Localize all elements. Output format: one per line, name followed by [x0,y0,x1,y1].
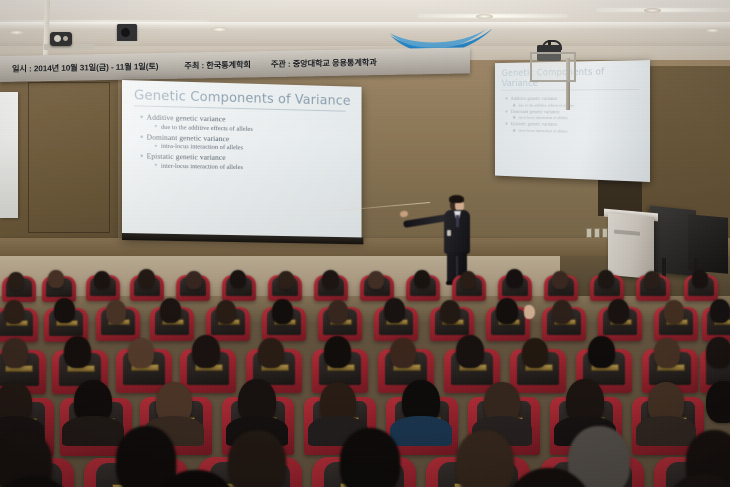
audience-area [0,250,730,487]
audience-head [456,335,484,368]
recessed-downlight [704,28,721,33]
audience-head [588,336,615,368]
lectern-label [614,230,640,236]
audience-head [368,271,384,289]
audience-head [128,338,154,368]
audience-head [664,300,684,324]
audience-head [706,337,730,368]
audience-head [192,335,220,368]
ceiling-mounted-projector [44,28,96,54]
audience-head [278,271,294,289]
audience-head [94,271,110,289]
ceiling-strip-light [418,14,568,18]
audience-head [496,298,518,324]
audience-head [608,299,629,324]
bullet-dot-icon: ✦ [154,125,158,130]
audience-head [64,336,91,368]
audience-head [272,299,293,324]
audience-head [2,338,28,368]
lecture-hall-photo: 일시 : 2014년 10월 31일(금) - 11월 1일(토) 주최 : 한… [0,0,730,487]
recessed-downlight [644,8,661,13]
audience-head [138,269,155,288]
bullet-level2: ◆due to the additive effects of alleles [513,102,645,108]
audience-head [48,270,64,288]
recessed-downlight [211,27,228,32]
ceiling-mounted-camera [115,24,145,46]
audience-head [258,338,284,368]
audience-head [598,270,614,288]
ceiling-projector-mount [530,40,572,78]
audience-head [216,300,236,324]
presenter-name-badge [447,230,451,236]
audience-head [384,298,405,323]
audience-shoulders [636,416,696,446]
ceiling-strip-light [0,20,210,24]
banner-host: 주최 : 한국통계학회 [184,58,250,71]
bullet-dot-icon: ✦ [154,144,158,149]
audience-head [552,271,568,289]
audience-head [4,300,24,324]
audience-face-profile [524,305,535,319]
audience-head [116,426,176,487]
bullet-level1: ●Additive genetic variance [505,96,644,102]
audience-head [228,430,286,487]
banner-date: 일시 : 2014년 10월 31일(금) - 11월 1일(토) [12,60,158,75]
audience-head [644,271,660,289]
audience-head [324,336,351,368]
recessed-downlight [8,30,25,35]
audience-head [8,272,24,290]
audience-head [456,430,514,487]
audience-head [460,271,476,289]
presenter-hair [449,195,464,203]
audience-head [160,298,181,323]
audience-head [414,270,430,288]
audience-head [390,338,416,368]
audience-head [322,270,339,289]
bullet-level2: ◆inter-locus interaction of alleles [513,128,645,136]
audience-head [506,269,523,288]
recessed-downlight [476,14,493,19]
wall-whiteboard-left [0,92,18,218]
audience-head [692,270,708,288]
slide-divider [502,89,640,91]
bullet-dot-icon: ● [140,115,144,121]
audience-shoulders [390,416,452,446]
bullet-dot-icon: ● [140,154,144,160]
audience-head [552,300,572,324]
audience-head [522,338,548,368]
audience-shoulders [62,416,124,446]
ceiling-strip-light [596,8,730,12]
slide-bullets-secondary: ●Additive genetic variance ◆due to the a… [502,96,645,136]
bullet-dot-icon: ✦ [154,164,158,169]
audience-head [106,300,126,324]
slide-bullet-list: ●Additive genetic variance ✦due to the a… [134,112,352,172]
audience-head [654,338,680,368]
audience-head [440,300,460,324]
audience-head [328,300,348,324]
presentation-slide: Genetic Components of Variance ●Additive… [122,80,362,240]
banner-organizer: 주관 : 중앙대학교 응용통계학과 [271,56,377,70]
audience-head [230,270,246,288]
presenter-tie [456,215,459,227]
main-projection-screen: Genetic Components of Variance ●Additive… [122,80,362,240]
audience-head [54,298,75,323]
audience-head [186,271,202,289]
audience-head [706,381,730,423]
audience-head [710,299,730,323]
audience-head [340,428,400,487]
bullet-dot-icon: ● [140,134,144,140]
